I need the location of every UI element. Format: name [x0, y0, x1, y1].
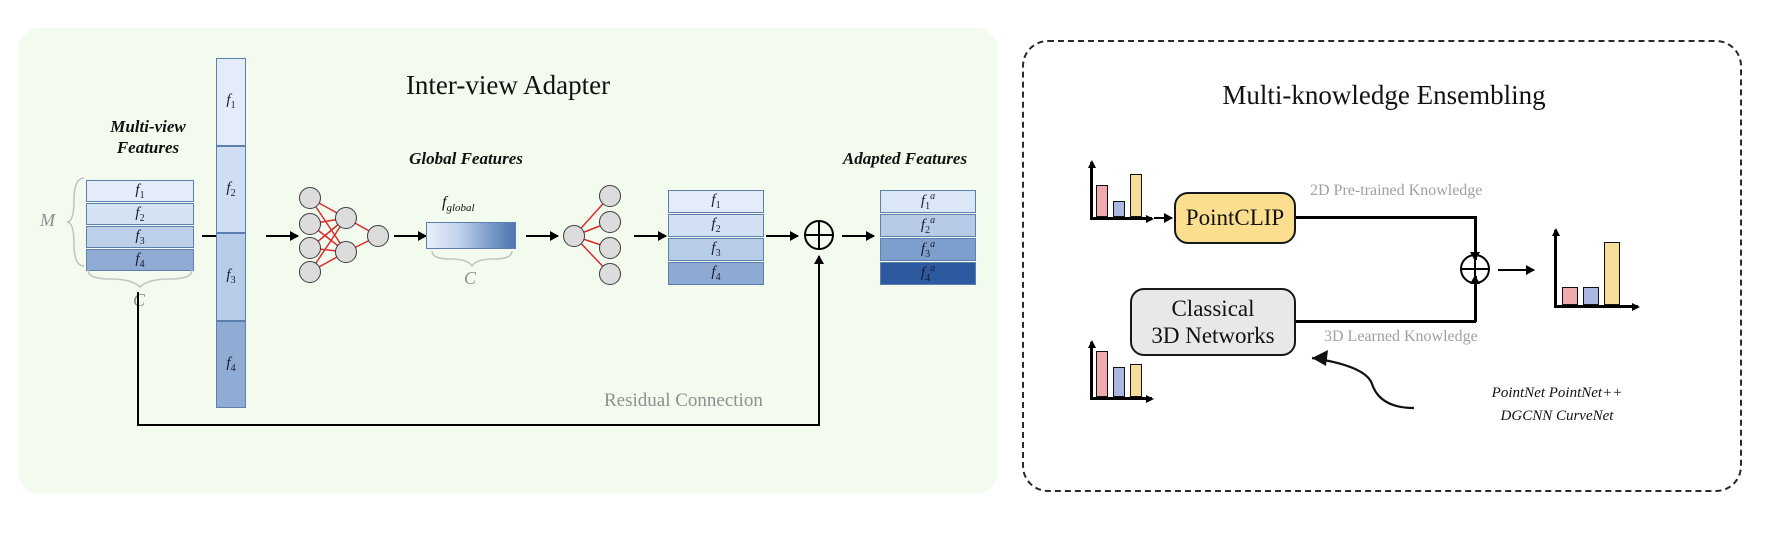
chart-bar [1130, 174, 1142, 217]
multi-view-feature-bar: f1 [86, 180, 194, 202]
neuron [299, 261, 321, 283]
arrow-global-to-decoder [526, 235, 558, 237]
projected-feature-bar: f2 [668, 214, 764, 237]
edge-classical-to-sum [1296, 320, 1476, 323]
concat-column-segment: f2 [216, 146, 246, 234]
residual-connection-label: Residual Connection [604, 390, 763, 412]
right-panel-title: Multi-knowledge Ensembling [1144, 80, 1624, 111]
edge-label-3d-knowledge: 3D Learned Knowledge [1324, 328, 1478, 346]
global-feature-bar [426, 222, 516, 249]
network-names-line-2: DGCNN CurveNet [1432, 405, 1682, 428]
f-global-label: fglobal [442, 194, 475, 214]
chart-bar [1604, 242, 1620, 305]
arrow-column-to-encoder [266, 235, 298, 237]
residual-line-horizontal [137, 424, 819, 426]
edge-pointclip-to-sum [1296, 216, 1476, 219]
chart-bars [1562, 237, 1632, 305]
chart-x-axis [1090, 217, 1152, 220]
edge-label-2d-knowledge: 2D Pre-trained Knowledge [1310, 182, 1482, 200]
brace-c-input-icon [86, 270, 194, 290]
neuron [599, 263, 621, 285]
neuron [599, 185, 621, 207]
concat-column-segment: f4 [216, 321, 246, 409]
arrow-projected-to-sum [766, 235, 798, 237]
arrow-sum-to-output-chart [1498, 269, 1534, 271]
chart-bar [1113, 201, 1125, 217]
chart-y-axis [1090, 342, 1093, 400]
encoder-mlp [296, 186, 388, 284]
dim-label-c-input: C [133, 290, 145, 311]
residual-arrow-up [818, 256, 820, 426]
network-names-line-1: PointNet PointNet++ [1432, 382, 1682, 405]
chart-bar [1562, 287, 1578, 305]
ensemble-sum-icon [1460, 254, 1490, 284]
classical-label-line-1: Classical [1171, 295, 1254, 322]
label-line-1: Multi-view [58, 116, 238, 137]
chart-y-axis [1090, 162, 1093, 220]
f-global-sub: global [446, 202, 474, 214]
figure-root: Inter-view Adapter Multi-view Features M… [0, 0, 1766, 550]
label-line-2: Features [58, 137, 238, 158]
neuron [299, 237, 321, 259]
adapted-feature-bar: f3a [880, 238, 976, 261]
multi-view-feature-bar: f4 [86, 249, 194, 271]
chart-y-axis [1554, 230, 1557, 308]
residual-line-vertical-left [137, 292, 139, 426]
neuron [299, 187, 321, 209]
chart-bar [1113, 367, 1125, 397]
chart-x-axis [1554, 305, 1638, 308]
projected-feature-bar: f4 [668, 262, 764, 285]
neuron [335, 241, 357, 263]
pointclip-label: PointCLIP [1186, 204, 1284, 231]
concat-column-segment: f3 [216, 233, 246, 321]
projected-feature-bar: f1 [668, 190, 764, 213]
pointclip-box[interactable]: PointCLIP [1174, 192, 1296, 244]
projected-feature-bar: f3 [668, 238, 764, 261]
arrow-decoder-to-projected [634, 235, 666, 237]
network-names-list: PointNet PointNet++ DGCNN CurveNet [1432, 382, 1682, 429]
neuron [563, 225, 585, 247]
multi-view-features-label: Multi-view Features [58, 116, 238, 159]
neuron [335, 207, 357, 229]
arrow-encoder-to-global [394, 235, 426, 237]
chart-bar [1096, 351, 1108, 397]
classical-label-line-2: 3D Networks [1151, 322, 1274, 349]
multi-knowledge-ensembling-panel: Multi-knowledge Ensembling PointCLIP 2D … [1022, 40, 1742, 492]
dim-label-c-global: C [464, 268, 476, 289]
adapted-feature-bar: f2a [880, 214, 976, 237]
multi-view-feature-bar: f3 [86, 226, 194, 248]
neuron [367, 225, 389, 247]
chart-bar [1096, 185, 1108, 217]
concat-column-segment: f1 [216, 58, 246, 146]
residual-sum-icon [804, 220, 834, 250]
multi-view-feature-bar: f2 [86, 203, 194, 225]
global-features-label: Global Features [376, 148, 556, 169]
inter-view-adapter-panel: Inter-view Adapter Multi-view Features M… [18, 28, 998, 494]
adapted-feature-bar: f1a [880, 190, 976, 213]
chart-x-axis [1090, 397, 1152, 400]
decoder-mlp [560, 184, 628, 286]
adapted-feature-bar: f4a [880, 262, 976, 285]
dim-label-m: M [40, 210, 55, 231]
adapted-features-label: Adapted Features [800, 148, 1010, 169]
brace-m-icon [64, 176, 86, 268]
classical-3d-networks-box[interactable]: Classical 3D Networks [1130, 288, 1296, 356]
arrow-sum-to-adapted [842, 235, 874, 237]
page-title: Inter-view Adapter [318, 70, 698, 101]
chart-logits-2d [1082, 162, 1154, 224]
neuron [299, 213, 321, 235]
chart-bars [1096, 165, 1148, 217]
chart-bar [1583, 287, 1599, 305]
brace-c-global-icon [430, 251, 514, 269]
arrow-chart2d-to-pointclip [1154, 217, 1172, 219]
chart-bar [1130, 364, 1142, 397]
pointer-arrow-icon [1288, 348, 1428, 418]
chart-logits-ensembled [1544, 230, 1640, 314]
neuron [599, 237, 621, 259]
neuron [599, 211, 621, 233]
